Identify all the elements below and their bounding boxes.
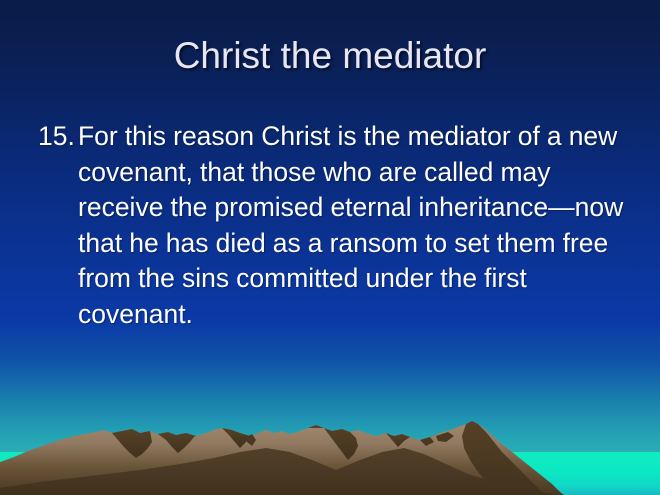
presentation-slide: Christ the mediator 15. For this reason … (0, 0, 660, 495)
list-item-text: For this reason Christ is the mediator o… (78, 119, 630, 333)
list-item-number: 15. (38, 119, 78, 155)
slide-body: 15. For this reason Christ is the mediat… (38, 119, 630, 333)
list-item: 15. For this reason Christ is the mediat… (38, 119, 630, 333)
mountain-range-icon (0, 400, 660, 495)
slide-title: Christ the mediator (0, 34, 660, 78)
